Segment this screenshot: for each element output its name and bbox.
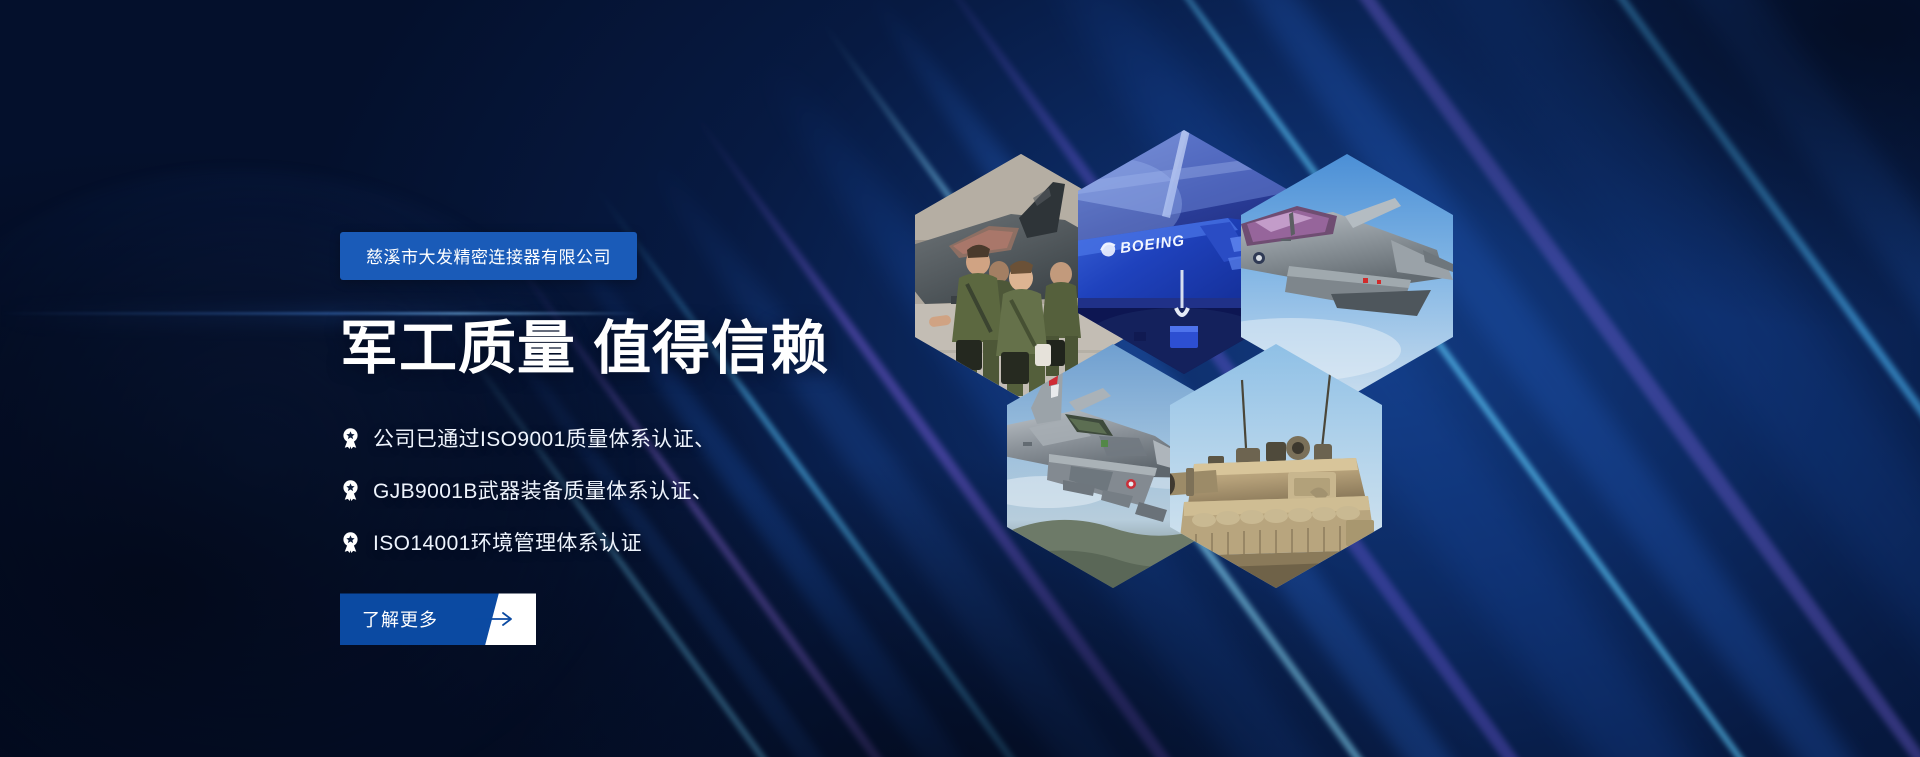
list-item-label: ISO14001环境管理体系认证 bbox=[373, 527, 642, 557]
arrow-right-icon bbox=[474, 593, 516, 645]
company-badge: 慈溪市大发精密连接器有限公司 bbox=[340, 232, 637, 280]
list-item: ISO14001环境管理体系认证 bbox=[340, 527, 960, 557]
hero-banner: BOEING bbox=[0, 0, 1920, 757]
list-item: 公司已通过ISO9001质量体系认证、 bbox=[340, 423, 960, 453]
list-item: GJB9001B武器装备质量体系认证、 bbox=[340, 475, 960, 505]
certification-list: 公司已通过ISO9001质量体系认证、 GJB9001B武器装备质量体系认证、 bbox=[340, 423, 960, 557]
medal-icon bbox=[340, 428, 361, 449]
medal-icon bbox=[340, 480, 361, 501]
learn-more-label: 了解更多 bbox=[362, 593, 438, 645]
page-title: 军工质量 值得信赖 bbox=[340, 318, 960, 379]
hero-content: 慈溪市大发精密连接器有限公司 军工质量 值得信赖 公司已通过ISO9001质量体… bbox=[340, 232, 960, 645]
list-item-label: GJB9001B武器装备质量体系认证、 bbox=[373, 475, 713, 505]
hexagon-photo-cluster: BOEING bbox=[915, 130, 1535, 630]
medal-icon bbox=[340, 532, 361, 553]
learn-more-button[interactable]: 了解更多 bbox=[340, 593, 536, 645]
list-item-label: 公司已通过ISO9001质量体系认证、 bbox=[373, 423, 716, 453]
